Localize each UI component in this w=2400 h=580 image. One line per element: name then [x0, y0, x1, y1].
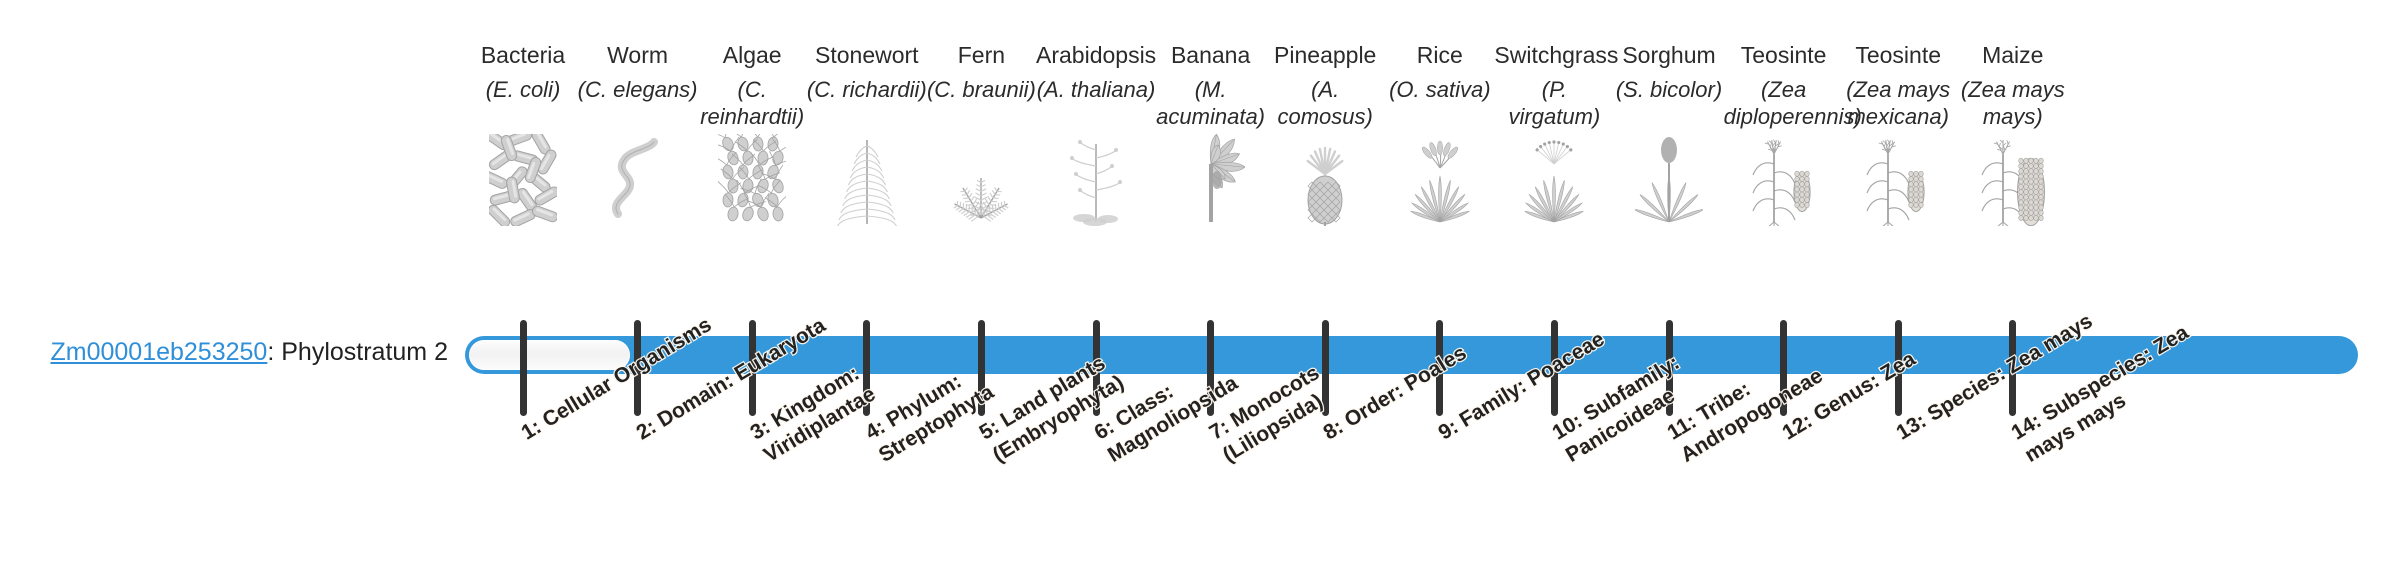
rice-illustration — [1380, 134, 1500, 226]
species-latin-name: (A. comosus) — [1265, 76, 1385, 130]
species-common-name: Bacteria — [463, 40, 583, 70]
species-latin-name: (S. bicolor) — [1609, 76, 1729, 130]
species-latin-name: (C. elegans) — [578, 76, 698, 130]
species-common-name: Rice — [1380, 40, 1500, 70]
species-column: Switchgrass(P. virgatum) — [1494, 40, 1614, 226]
species-common-name: Teosinte — [1724, 40, 1844, 70]
species-latin-name: (E. coli) — [463, 76, 583, 130]
species-column: Rice(O. sativa) — [1380, 40, 1500, 226]
rank-number: 1: — [518, 415, 546, 444]
species-common-name: Switchgrass — [1494, 40, 1614, 70]
species-common-name: Worm — [578, 40, 698, 70]
teosinte-illustration — [1838, 134, 1958, 226]
species-latin-name: (C. richardii) — [807, 76, 927, 130]
maize-illustration — [1953, 134, 2073, 226]
phylostratum-timeline: Zm00001eb253250: Phylostratum 2 Bacteria… — [0, 0, 2400, 580]
species-column: Banana(M. acuminata) — [1151, 40, 1271, 226]
species-latin-name: (A. thaliana) — [1036, 76, 1156, 130]
species-column: Pineapple(A. comosus) — [1265, 40, 1385, 226]
phylostratum-bar-unfilled-segment — [469, 340, 630, 370]
species-column: Bacteria(E. coli) — [463, 40, 583, 226]
gene-phylostratum-label: Zm00001eb253250: Phylostratum 2 — [0, 337, 448, 367]
species-latin-name: (O. sativa) — [1380, 76, 1500, 130]
banana-illustration — [1151, 134, 1271, 226]
species-latin-name: (Zea mays mays) — [1953, 76, 2073, 130]
species-latin-name: (C. braunii) — [921, 76, 1041, 130]
species-latin-name: (Zea mays mexicana) — [1838, 76, 1958, 130]
teosinte-illustration — [1724, 134, 1844, 226]
switchgrass-illustration — [1494, 134, 1614, 226]
species-common-name: Teosinte — [1838, 40, 1958, 70]
rank-number: 8: — [1320, 415, 1348, 444]
species-column: Teosinte(Zea diploperennis) — [1724, 40, 1844, 226]
species-column: Worm(C. elegans) — [578, 40, 698, 226]
species-latin-name: (P. virgatum) — [1494, 76, 1614, 130]
tick-mark-1[interactable] — [520, 320, 527, 416]
species-latin-name: (M. acuminata) — [1151, 76, 1271, 130]
pineapple-illustration — [1265, 134, 1385, 226]
species-common-name: Maize — [1953, 40, 2073, 70]
species-column: Maize(Zea mays mays) — [1953, 40, 2073, 226]
species-common-name: Algae — [692, 40, 812, 70]
species-common-name: Stonewort — [807, 40, 927, 70]
rank-number: 2: — [632, 415, 660, 444]
species-column: Sorghum(S. bicolor) — [1609, 40, 1729, 226]
gene-id-link[interactable]: Zm00001eb253250 — [50, 338, 267, 366]
species-latin-name: (Zea diploperennis) — [1724, 76, 1844, 130]
species-column: Teosinte(Zea mays mexicana) — [1838, 40, 1958, 226]
stonewort-illustration — [807, 134, 927, 226]
fern-illustration — [921, 134, 1041, 226]
species-common-name: Sorghum — [1609, 40, 1729, 70]
species-column: Algae(C. reinhardtii) — [692, 40, 812, 226]
rank-label-1: 1: Cellular Organisms — [517, 306, 728, 447]
sorghum-illustration — [1609, 134, 1729, 226]
algae-illustration — [692, 134, 812, 226]
species-common-name: Pineapple — [1265, 40, 1385, 70]
species-column: Stonewort(C. richardii) — [807, 40, 927, 226]
species-column: Fern(C. braunii) — [921, 40, 1041, 226]
species-latin-name: (C. reinhardtii) — [692, 76, 812, 130]
bacteria-illustration — [463, 134, 583, 226]
phylostratum-value-text: Phylostratum 2 — [281, 338, 448, 366]
species-common-name: Banana — [1151, 40, 1271, 70]
rank-text: Kingdom: Viridiplantae — [760, 362, 880, 467]
worm-illustration — [578, 134, 698, 226]
rank-number: 9: — [1434, 415, 1462, 444]
arabidopsis-illustration — [1036, 134, 1156, 226]
species-common-name: Fern — [921, 40, 1041, 70]
rank-label-14: 14: Subspecies: Zea mays mays — [2007, 306, 2231, 469]
gene-label-separator: : — [267, 338, 281, 366]
species-column: Arabidopsis(A. thaliana) — [1036, 40, 1156, 226]
species-common-name: Arabidopsis — [1036, 40, 1156, 70]
